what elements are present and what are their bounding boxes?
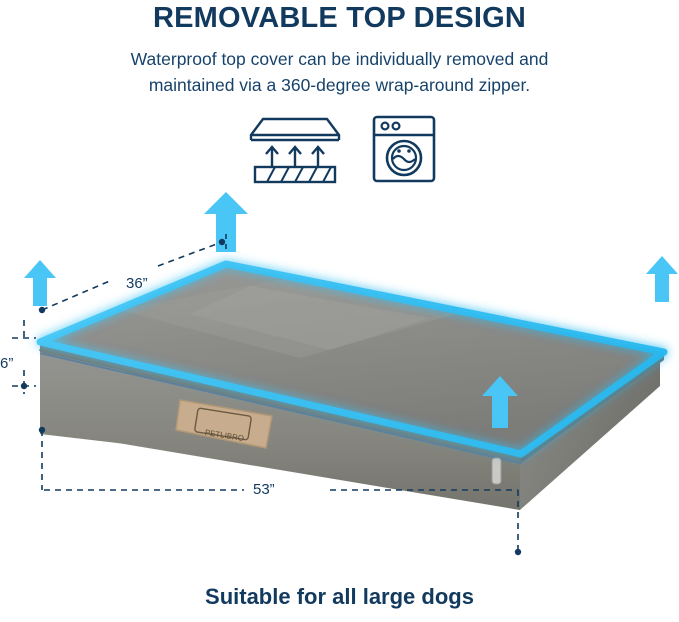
feature-icon-row bbox=[247, 114, 437, 188]
dimension-label-height: 6” bbox=[0, 355, 13, 372]
page-title: REMOVABLE TOP DESIGN bbox=[0, 2, 679, 35]
dimension-label-depth: 36” bbox=[126, 275, 148, 292]
dog-bed-illustration: PETLIBRO bbox=[0, 190, 679, 570]
dimension-line-6 bbox=[12, 320, 36, 394]
removable-cover-icon bbox=[247, 114, 343, 184]
footer-text: Suitable for all large dogs bbox=[0, 584, 679, 610]
page-subtitle: Waterproof top cover can be individually… bbox=[60, 46, 619, 98]
page-subtitle-line-2: maintained via a 360-degree wrap-around … bbox=[60, 72, 619, 98]
washing-machine-icon bbox=[371, 114, 437, 184]
dimension-label-width: 53” bbox=[253, 481, 275, 498]
product-infographic: REMOVABLE TOP DESIGN Waterproof top cove… bbox=[0, 0, 679, 622]
page-subtitle-line-1: Waterproof top cover can be individually… bbox=[60, 46, 619, 72]
zipper-pull bbox=[492, 458, 501, 484]
